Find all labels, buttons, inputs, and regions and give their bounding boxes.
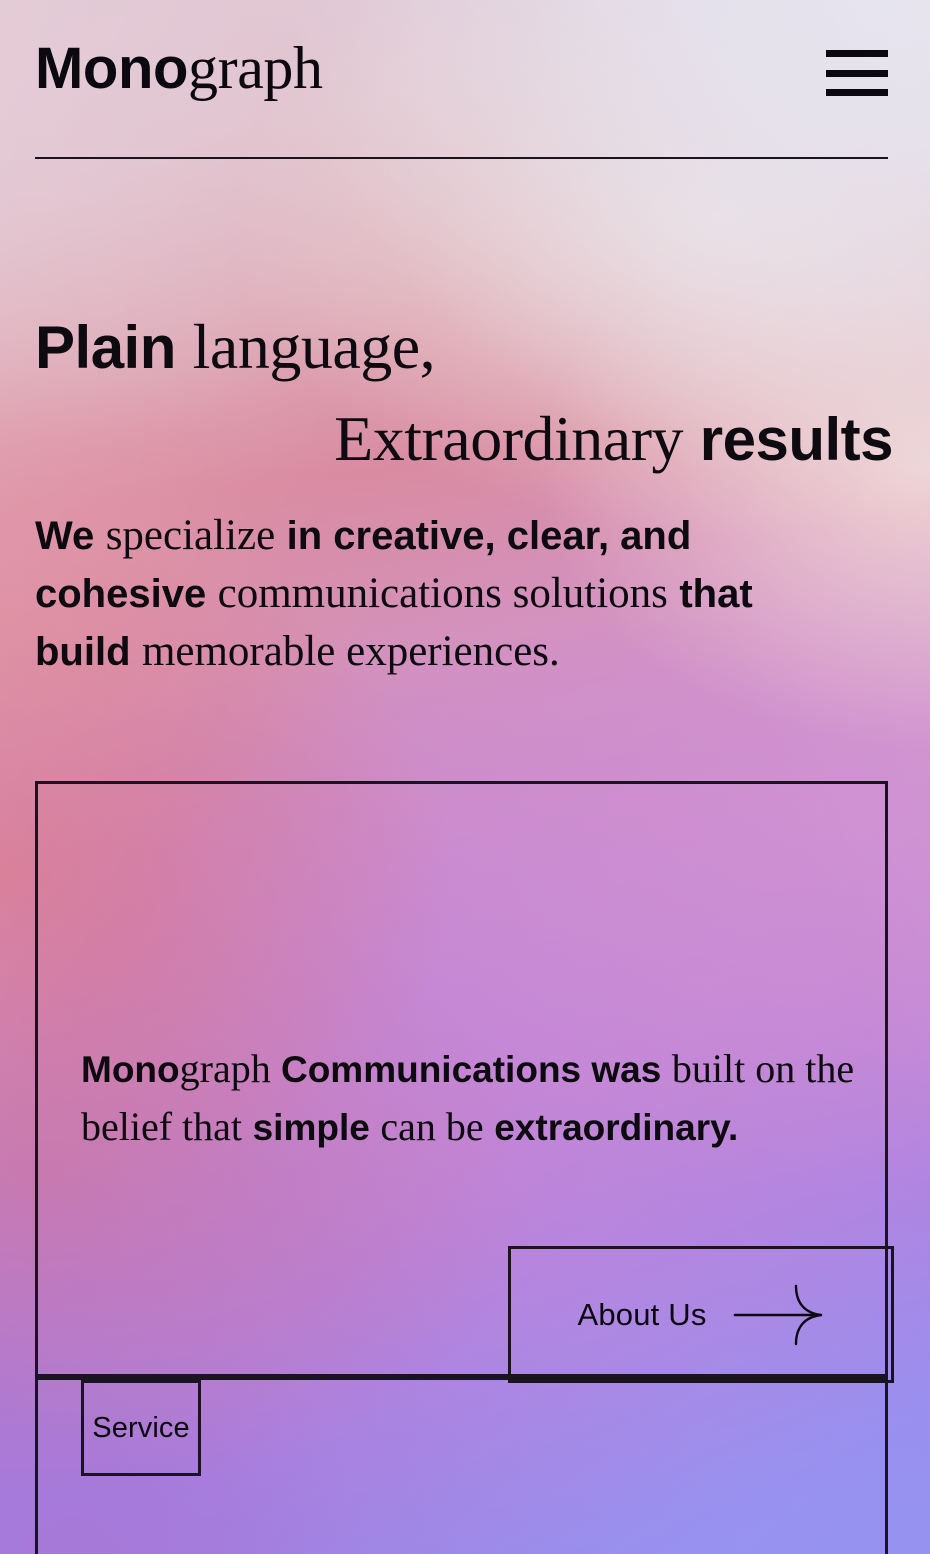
about-copy-part-7: extraordinary.: [494, 1107, 738, 1148]
site-header: Monograph: [35, 38, 888, 158]
service-tab[interactable]: Service: [81, 1380, 201, 1476]
menu-bar-top: [826, 50, 888, 57]
hero-sub-part-1: We: [35, 514, 94, 558]
header-divider: [35, 157, 888, 159]
about-copy-part-5: simple: [253, 1107, 370, 1148]
about-card: Monograph Communications was built on th…: [35, 781, 888, 1377]
hamburger-menu-icon[interactable]: [826, 50, 888, 96]
about-us-button[interactable]: About Us: [508, 1246, 894, 1383]
brand-logo-sans: Mono: [35, 36, 188, 101]
menu-bar-middle: [826, 70, 888, 77]
hero-sub-part-2: specialize: [106, 512, 276, 559]
about-copy-part-6: can be: [380, 1104, 483, 1149]
hero-word-language: language,: [193, 311, 436, 382]
hero-sub-part-4: communications solutions: [218, 570, 668, 617]
service-strip: Service: [35, 1377, 888, 1554]
hero-heading-line-2: Extraordinary results: [35, 404, 895, 474]
hero-heading: Plain language, Extraordinary results: [35, 312, 895, 474]
about-copy-part-2: graph: [180, 1046, 271, 1091]
about-card-copy: Monograph Communications was built on th…: [81, 1040, 856, 1155]
brand-logo[interactable]: Monograph: [35, 38, 323, 98]
hero-subheading: We specialize in creative, clear, and co…: [35, 507, 835, 681]
arrow-right-icon: [733, 1284, 825, 1346]
hero-word-results: results: [700, 406, 893, 473]
brand-logo-serif: graph: [188, 35, 323, 101]
hero-heading-line-1: Plain language,: [35, 312, 895, 382]
hero-word-extraordinary: Extraordinary: [334, 403, 683, 474]
hero-word-plain: Plain: [35, 314, 176, 381]
service-tab-label: Service: [92, 1412, 189, 1445]
about-copy-part-3: Communications was: [271, 1049, 662, 1090]
about-copy-part-1: Mono: [81, 1049, 180, 1090]
about-us-label: About Us: [577, 1297, 706, 1333]
hero-sub-part-6: memorable experiences.: [142, 628, 560, 675]
page-root: Monograph Plain language, Extraordinary …: [0, 0, 930, 1554]
menu-bar-bottom: [826, 89, 888, 96]
